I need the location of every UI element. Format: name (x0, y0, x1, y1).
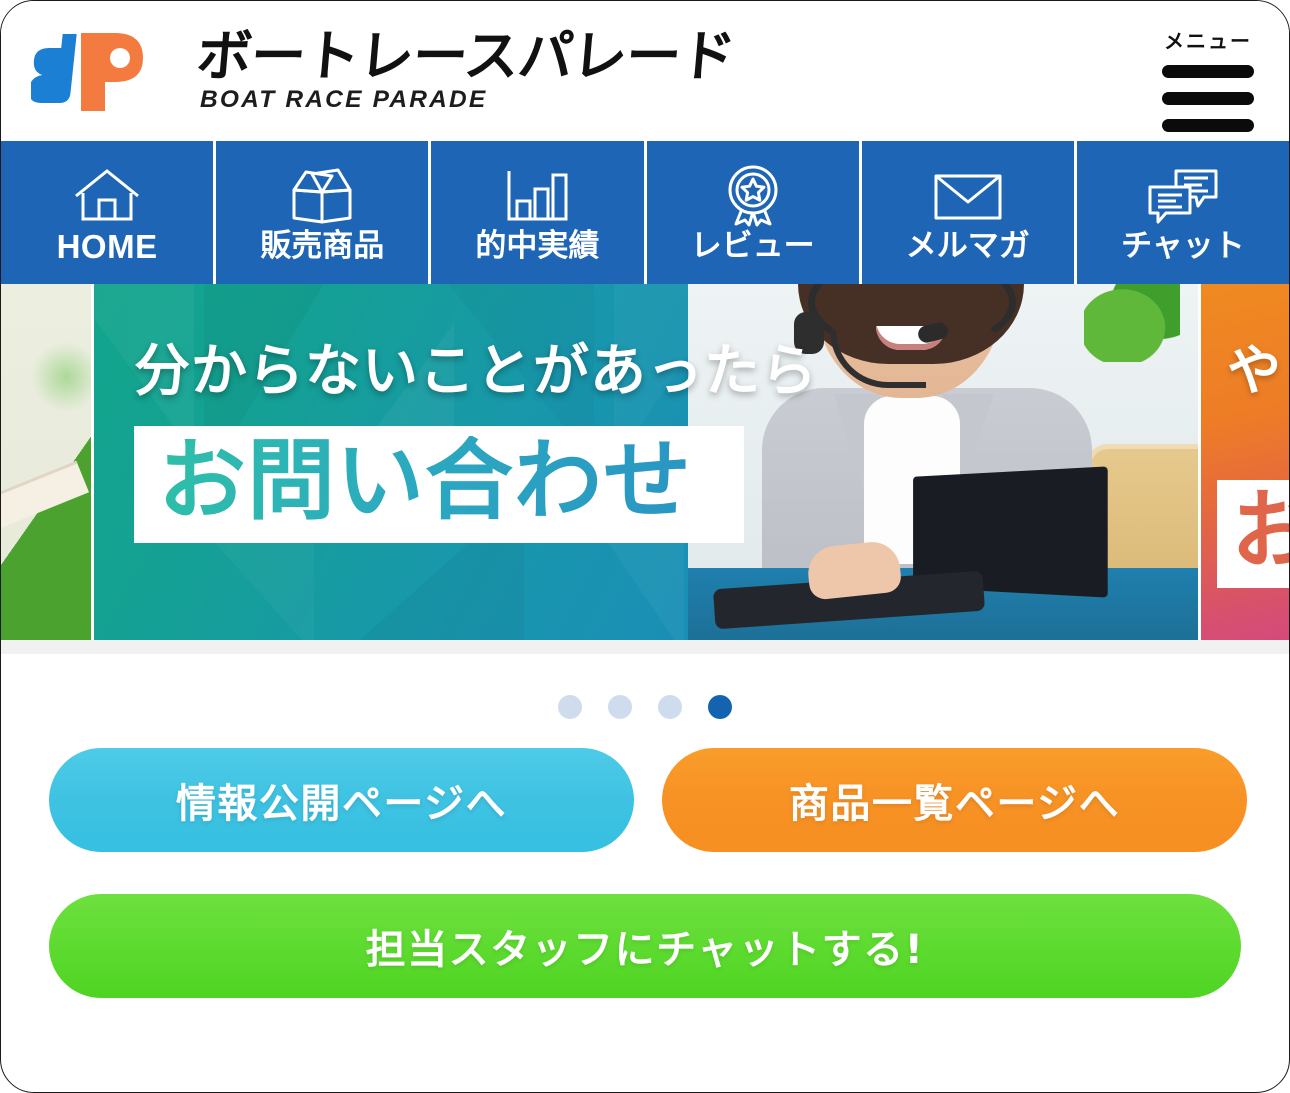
info-disclosure-page-button[interactable]: 情報公開ページへ (49, 748, 634, 852)
carousel-dot-1[interactable] (558, 695, 582, 719)
chat-icon (1144, 167, 1222, 225)
carousel-slide-active[interactable]: 分からないことがあったら お問い合わせ (91, 284, 1201, 640)
nav-label-products: 販売商品 (260, 231, 384, 262)
box-icon (284, 167, 360, 225)
nav-item-products[interactable]: 販売商品 (216, 141, 431, 284)
logo-text: ボートレースパレード BOAT RACE PARADE (197, 28, 734, 114)
slide-next-title: お (1231, 481, 1289, 581)
logo-title-jp: ボートレースパレード (195, 28, 737, 84)
hero-title: お問い合わせ (158, 436, 720, 527)
carousel-slide-previous[interactable] (1, 284, 91, 640)
main-navigation: HOME 販売商品 (1, 141, 1289, 284)
bar-chart-icon (501, 167, 573, 225)
carousel-dot-2[interactable] (608, 695, 632, 719)
nav-item-results[interactable]: 的中実績 (431, 141, 646, 284)
carousel-slide-next[interactable]: や お (1201, 284, 1289, 640)
product-list-page-button[interactable]: 商品一覧ページへ (662, 748, 1247, 852)
nav-label-results: 的中実績 (475, 231, 599, 262)
device-frame: ボートレースパレード BOAT RACE PARADE メニュー HOME (0, 0, 1290, 1093)
nav-label-newsletter: メルマガ (906, 231, 1030, 262)
hero-title-plate: お問い合わせ (134, 426, 744, 543)
cta-row: 情報公開ページへ 商品一覧ページへ (49, 748, 1241, 852)
nav-label-chat: チャット (1121, 231, 1245, 262)
carousel-dot-3[interactable] (658, 695, 682, 719)
chat-with-staff-button[interactable]: 担当スタッフにチャットする! (49, 894, 1241, 998)
nav-item-review[interactable]: レビュー (647, 141, 862, 284)
nav-label-review: レビュー (691, 231, 815, 262)
hero-headline: 分からないことがあったら (134, 344, 818, 400)
nav-item-home[interactable]: HOME (1, 141, 216, 284)
site-header: ボートレースパレード BOAT RACE PARADE メニュー (1, 1, 1289, 141)
slide-next-title-plate: お (1217, 480, 1289, 588)
logo-title-en: BOAT RACE PARADE (200, 86, 734, 114)
carousel-track: 分からないことがあったら お問い合わせ や お (1, 284, 1289, 640)
carousel-dots (1, 695, 1289, 719)
nav-item-chat[interactable]: チャット (1077, 141, 1289, 284)
slide-previous-background (1, 284, 91, 640)
slide-active-copy: 分からないことがあったら お問い合わせ (134, 344, 818, 543)
award-icon (720, 167, 786, 225)
slide-next-headline: や (1227, 326, 1281, 405)
home-icon (70, 166, 144, 224)
carousel-dot-4[interactable] (708, 695, 732, 719)
menu-toggle-button[interactable]: メニュー (1160, 25, 1256, 132)
nav-label-home: HOME (57, 230, 158, 263)
boat-race-parade-logo-icon (31, 25, 183, 117)
slide-previous-glow (31, 342, 91, 412)
nav-item-newsletter[interactable]: メルマガ (862, 141, 1077, 284)
site-logo[interactable]: ボートレースパレード BOAT RACE PARADE (31, 25, 734, 117)
hamburger-icon (1162, 65, 1254, 132)
menu-label: メニュー (1164, 25, 1252, 54)
mail-icon (930, 167, 1006, 225)
hero-carousel: 分からないことがあったら お問い合わせ や お (1, 284, 1289, 654)
